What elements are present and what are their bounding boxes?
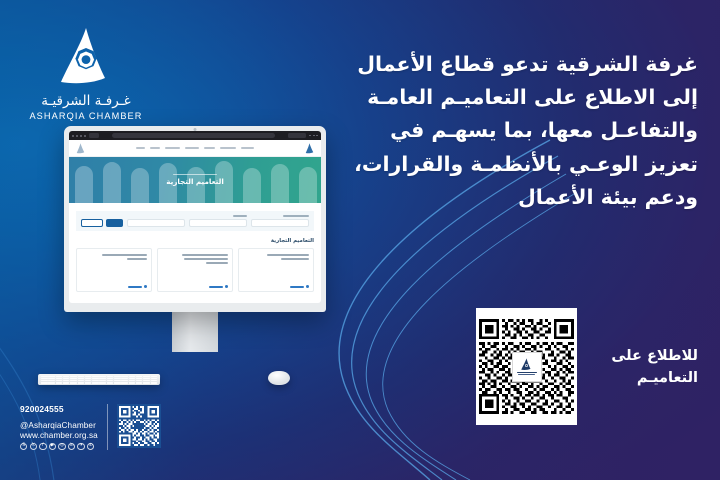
browser-menu-icon[interactable] [72, 135, 86, 137]
promo-poster: غـرفـة الشرقيـة ASHARQIA CHAMBER غرفة ال… [0, 0, 720, 480]
circular-card[interactable] [76, 248, 152, 292]
telegram-icon[interactable]: ✈ [77, 443, 84, 450]
browser-url-bar[interactable] [112, 133, 275, 138]
whatsapp-icon[interactable]: ✆ [87, 443, 94, 450]
site-filter-bar [76, 211, 314, 231]
monitor-bezel: التعاميم التجارية [64, 126, 326, 312]
youtube-icon[interactable]: ▶ [49, 443, 56, 450]
filter-name-field[interactable] [251, 215, 309, 227]
brand-logo: غـرفـة الشرقيـة ASHARQIA CHAMBER [22, 26, 150, 121]
site-logo-icon[interactable] [305, 143, 314, 154]
cta-text: للاطلاع على التعاميـم [606, 345, 698, 390]
monitor-screen: التعاميم التجارية [69, 131, 321, 303]
headline-line-4: تعزيز الوعـي بالأنظمـة والقرارات، [346, 148, 698, 181]
brand-name-en: ASHARQIA CHAMBER [22, 111, 150, 121]
filter-date-to-input[interactable] [127, 219, 185, 227]
filter-name-input[interactable] [251, 219, 309, 227]
contact-divider [107, 404, 108, 450]
site-header [69, 140, 321, 157]
user-account-icon[interactable] [76, 143, 85, 154]
contact-qr-code-icon[interactable] [117, 404, 161, 448]
headline-line-2: إلى الاطلاع على التعاميـم العامـة [346, 81, 698, 114]
filter-date-to-field[interactable] [127, 215, 185, 227]
qr-code-icon[interactable] [476, 308, 577, 425]
cta-line-2: التعاميـم [606, 367, 698, 389]
site-hero-banner: التعاميم التجارية [69, 157, 321, 203]
monitor-stand [172, 312, 218, 352]
contact-block: 920024555 @AsharqiaChamber www.chamber.o… [20, 404, 161, 450]
circular-card[interactable] [157, 248, 233, 292]
qr-center-logo [512, 352, 542, 382]
chamber-sail-logo-icon [55, 26, 117, 88]
headline-line-1: غرفة الشرقية تدعو قطاع الأعمال [346, 48, 698, 81]
twitter-icon[interactable]: 𝕏 [30, 443, 37, 450]
circulars-card-list [76, 248, 314, 292]
contact-qr-matrix [119, 406, 159, 446]
headline-line-5: ودعم بيئة الأعمال [346, 181, 698, 214]
chamber-sail-logo-icon [520, 358, 533, 371]
snapchat-icon[interactable]: S [20, 443, 27, 450]
filter-name-label [283, 215, 309, 217]
browser-tab[interactable] [288, 133, 306, 138]
search-button[interactable] [106, 219, 123, 228]
mouse-icon [268, 371, 290, 385]
monitor-mockup: التعاميم التجارية [64, 126, 326, 352]
contact-social-handle[interactable]: @AsharqiaChamber [20, 421, 98, 430]
keyboard-icon [38, 374, 160, 385]
filter-date-from-input[interactable] [189, 219, 247, 227]
cta-line-1: للاطلاع على [606, 345, 698, 367]
contact-phone[interactable]: 920024555 [20, 404, 98, 414]
brand-name-ar: غـرفـة الشرقيـة [22, 94, 150, 109]
window-controls-icon[interactable] [309, 135, 318, 137]
browser-chrome [69, 131, 321, 140]
filter-date-from-field[interactable] [189, 215, 247, 227]
site-nav[interactable] [136, 147, 254, 149]
browser-extension-chip[interactable] [89, 133, 99, 138]
contact-website[interactable]: www.chamber.org.sa [20, 431, 98, 440]
reset-button[interactable] [81, 219, 103, 228]
circular-card-link[interactable] [162, 285, 228, 288]
headline: غرفة الشرقية تدعو قطاع الأعمال إلى الاطل… [346, 48, 698, 214]
facebook-icon[interactable]: f [39, 443, 46, 450]
circular-card[interactable] [238, 248, 314, 292]
headline-line-3: والتفاعـل معها، بما يسهـم في [346, 114, 698, 147]
circular-card-link[interactable] [243, 285, 309, 288]
site-hero-title: التعاميم التجارية [166, 177, 224, 186]
filter-date-label [233, 215, 247, 217]
circular-card-link[interactable] [81, 285, 147, 288]
site-breadcrumb [173, 174, 217, 176]
social-icons-row[interactable]: S 𝕏 f ▶ ◎ in ✈ ✆ [20, 443, 98, 450]
instagram-icon[interactable]: ◎ [58, 443, 65, 450]
linkedin-icon[interactable]: in [68, 443, 75, 450]
results-title: التعاميم التجارية [76, 238, 314, 244]
